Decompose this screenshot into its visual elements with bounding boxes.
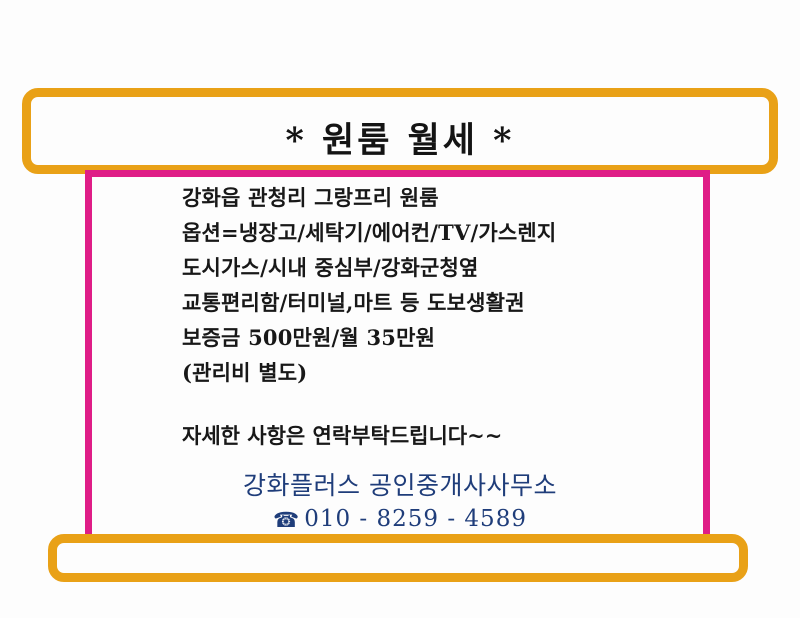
detail-line-utilities-location: 도시가스/시내 중심부/강화군청옆 bbox=[182, 250, 682, 285]
magenta-top-border bbox=[85, 170, 710, 177]
flyer-poster: * 원룸 월세 * 강화읍 관청리 그랑프리 원룸 옵션=냉장고/세탁기/에어컨… bbox=[0, 0, 800, 618]
listing-details-block: 강화읍 관청리 그랑프리 원룸 옵션=냉장고/세탁기/에어컨/TV/가스렌지 도… bbox=[182, 180, 682, 390]
detail-line-price: 보증금 500만원/월 35만원 bbox=[182, 320, 682, 355]
detail-line-options: 옵션=냉장고/세탁기/에어컨/TV/가스렌지 bbox=[182, 215, 682, 250]
detail-line-transit: 교통편리함/터미널,마트 등 도보생활권 bbox=[182, 285, 682, 320]
detail-line-maintenance-note: (관리비 별도) bbox=[182, 355, 682, 390]
detail-line-address: 강화읍 관청리 그랑프리 원룸 bbox=[182, 180, 682, 215]
call-to-action-text: 자세한 사항은 연락부탁드립니다~~ bbox=[182, 420, 682, 450]
bottom-orange-frame-bar bbox=[48, 534, 748, 582]
agency-name: 강화플러스 공인중개사사무소 bbox=[0, 470, 800, 502]
phone-row[interactable]: ☎010 - 8259 - 4589 bbox=[0, 504, 800, 535]
telephone-icon: ☎ bbox=[273, 508, 300, 532]
phone-number[interactable]: 010 - 8259 - 4589 bbox=[304, 506, 527, 532]
contact-block: 강화플러스 공인중개사사무소 ☎010 - 8259 - 4589 bbox=[0, 470, 800, 535]
flyer-title: * 원룸 월세 * bbox=[0, 112, 800, 163]
